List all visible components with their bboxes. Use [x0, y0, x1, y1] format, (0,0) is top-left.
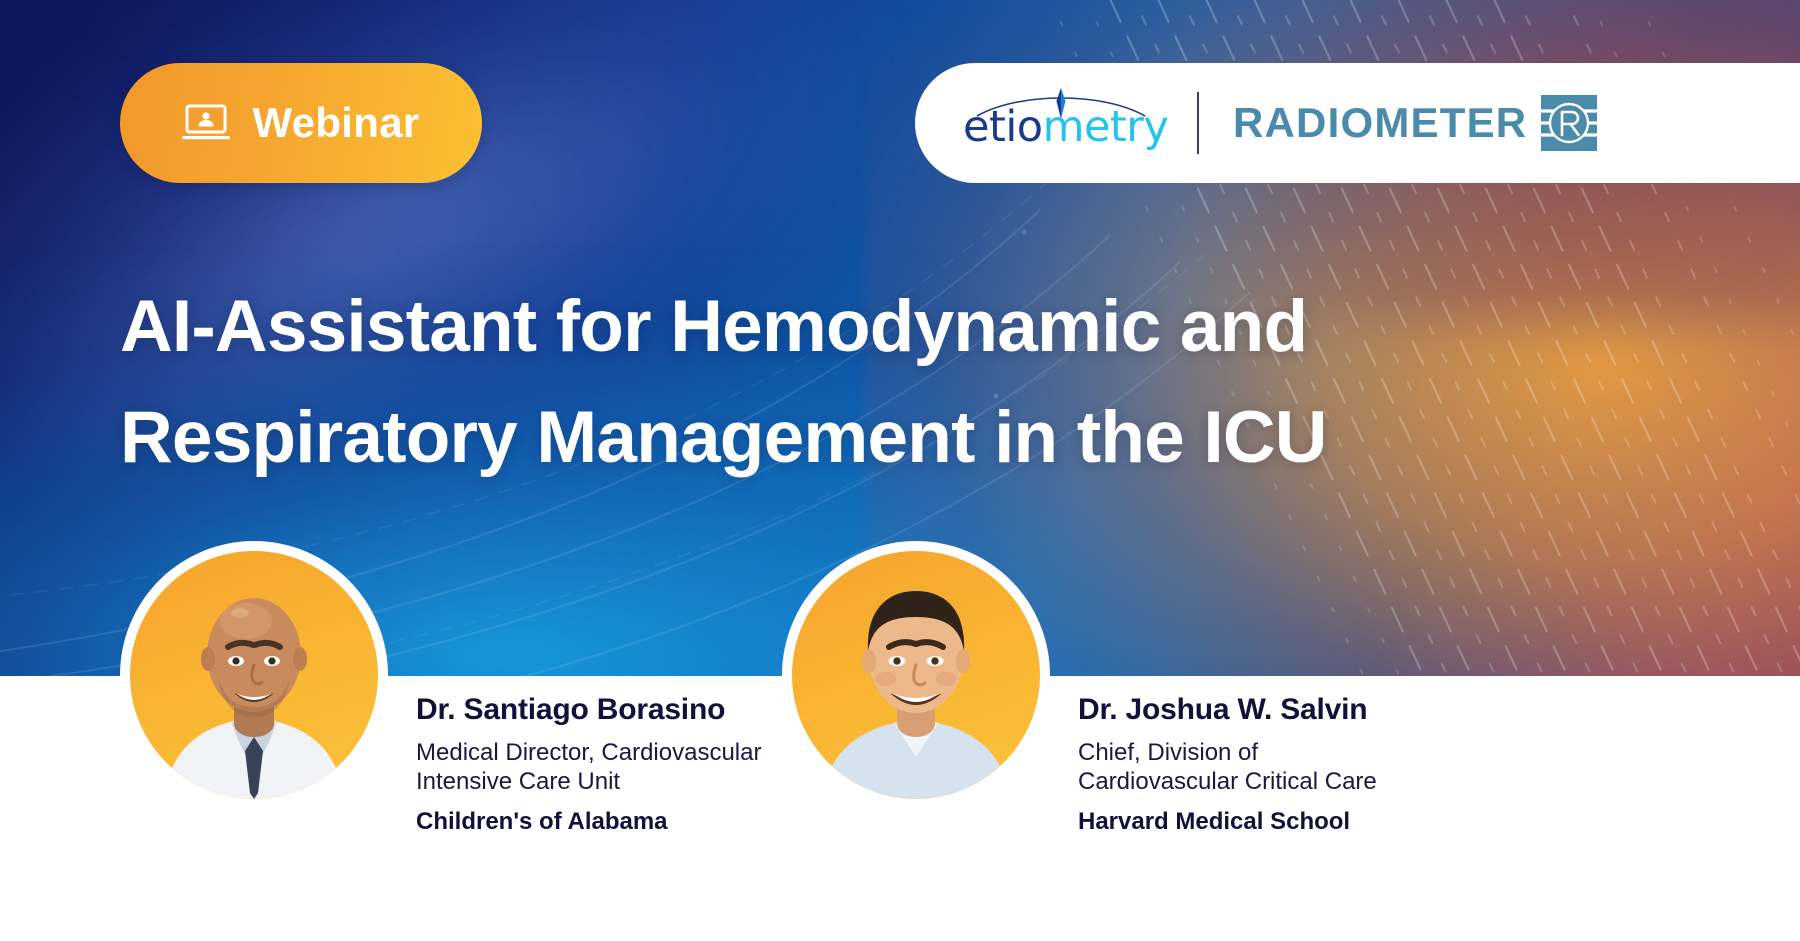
- speaker-photo-salvin: [792, 551, 1040, 799]
- speaker-name: Dr. Santiago Borasino: [416, 693, 761, 728]
- banner-title: AI-Assistant for Hemodynamic and Respira…: [120, 272, 1460, 494]
- logo-divider: [1197, 92, 1199, 154]
- avatar: [782, 541, 1050, 809]
- speaker-organization: Children's of Alabama: [416, 808, 761, 837]
- banner-title-line-2: Respiratory Management in the ICU: [120, 383, 1460, 494]
- webinar-promo-banner: Webinar etiometry RADIOMETER: [0, 0, 1800, 941]
- speaker-card: Dr. Joshua W. Salvin Chief, Division of …: [782, 541, 1377, 837]
- radiometer-r-icon: [1541, 95, 1597, 151]
- speaker-role-line-1: Medical Director, Cardiovascular: [416, 738, 761, 767]
- etiometry-logo: etiometry: [963, 86, 1159, 160]
- speakers-section: Dr. Santiago Borasino Medical Director, …: [0, 676, 1800, 941]
- speaker-role: Chief, Division of Cardiovascular Critic…: [1078, 738, 1377, 797]
- speaker-role-line-2: Cardiovascular Critical Care: [1078, 767, 1377, 796]
- etiometry-wordmark: etiometry: [963, 106, 1168, 149]
- speaker-organization: Harvard Medical School: [1078, 808, 1377, 837]
- etiometry-wordmark-part-two: metry: [1043, 102, 1169, 152]
- radiometer-logo: RADIOMETER: [1233, 95, 1597, 151]
- webinar-badge: Webinar: [120, 63, 482, 183]
- etiometry-wordmark-part-one: etio: [963, 102, 1043, 152]
- speaker-card: Dr. Santiago Borasino Medical Director, …: [120, 541, 761, 837]
- speaker-photo-borasino: [130, 551, 378, 799]
- speaker-details: Dr. Joshua W. Salvin Chief, Division of …: [1050, 541, 1377, 837]
- webinar-badge-label: Webinar: [252, 102, 419, 144]
- webinar-laptop-icon: [182, 104, 230, 142]
- speaker-role: Medical Director, Cardiovascular Intensi…: [416, 738, 761, 797]
- banner-title-line-1: AI-Assistant for Hemodynamic and: [120, 272, 1460, 383]
- speaker-role-line-1: Chief, Division of: [1078, 738, 1377, 767]
- radiometer-wordmark: RADIOMETER: [1233, 102, 1527, 144]
- speaker-portrait-illustration: [130, 551, 378, 799]
- speaker-name: Dr. Joshua W. Salvin: [1078, 693, 1377, 728]
- speaker-role-line-2: Intensive Care Unit: [416, 767, 761, 796]
- speaker-portrait-illustration: [792, 551, 1040, 799]
- speaker-details: Dr. Santiago Borasino Medical Director, …: [388, 541, 761, 837]
- avatar: [120, 541, 388, 809]
- partner-logo-pill: etiometry RADIOMETER: [915, 63, 1800, 183]
